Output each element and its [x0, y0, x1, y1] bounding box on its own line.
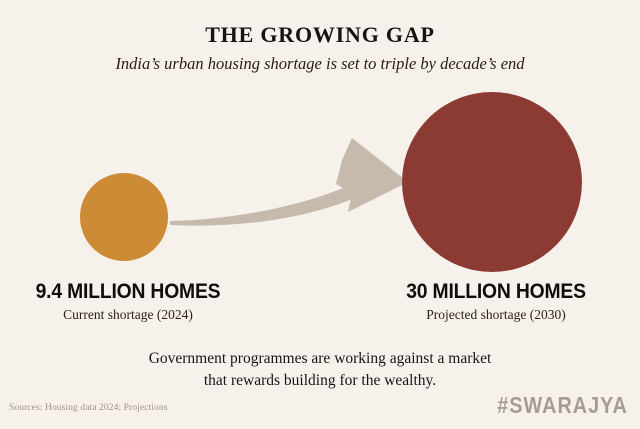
stat-current-shortage: 9.4 MILLION HOMES Current shortage (2024… [12, 280, 244, 324]
source-note: Sources: Housing data 2024; Projections [9, 403, 168, 413]
kicker-text: Government programmes are working agains… [0, 348, 640, 392]
page-subtitle: India’s urban housing shortage is set to… [0, 53, 640, 75]
page-title: THE GROWING GAP [0, 22, 640, 48]
stat-value-current: 9.4 MILLION HOMES [21, 280, 234, 304]
stat-caption-projected: Projected shortage (2030) [380, 306, 612, 324]
kicker-line-1: Government programmes are working agains… [0, 348, 640, 370]
circle-current-shortage [80, 173, 168, 261]
arrow-connector [170, 138, 408, 226]
infographic-canvas: THE GROWING GAP India’s urban housing sh… [0, 0, 640, 429]
circle-projected-shortage [402, 92, 582, 272]
stat-caption-current: Current shortage (2024) [12, 306, 244, 324]
stat-projected-shortage: 30 MILLION HOMES Projected shortage (203… [380, 280, 612, 324]
comparison-graphic [0, 88, 640, 278]
stat-value-projected: 30 MILLION HOMES [389, 280, 602, 304]
kicker-line-2: that rewards building for the wealthy. [0, 370, 640, 392]
swarajya-watermark: #SWARAJYA [497, 392, 628, 419]
header: THE GROWING GAP India’s urban housing sh… [0, 22, 640, 75]
